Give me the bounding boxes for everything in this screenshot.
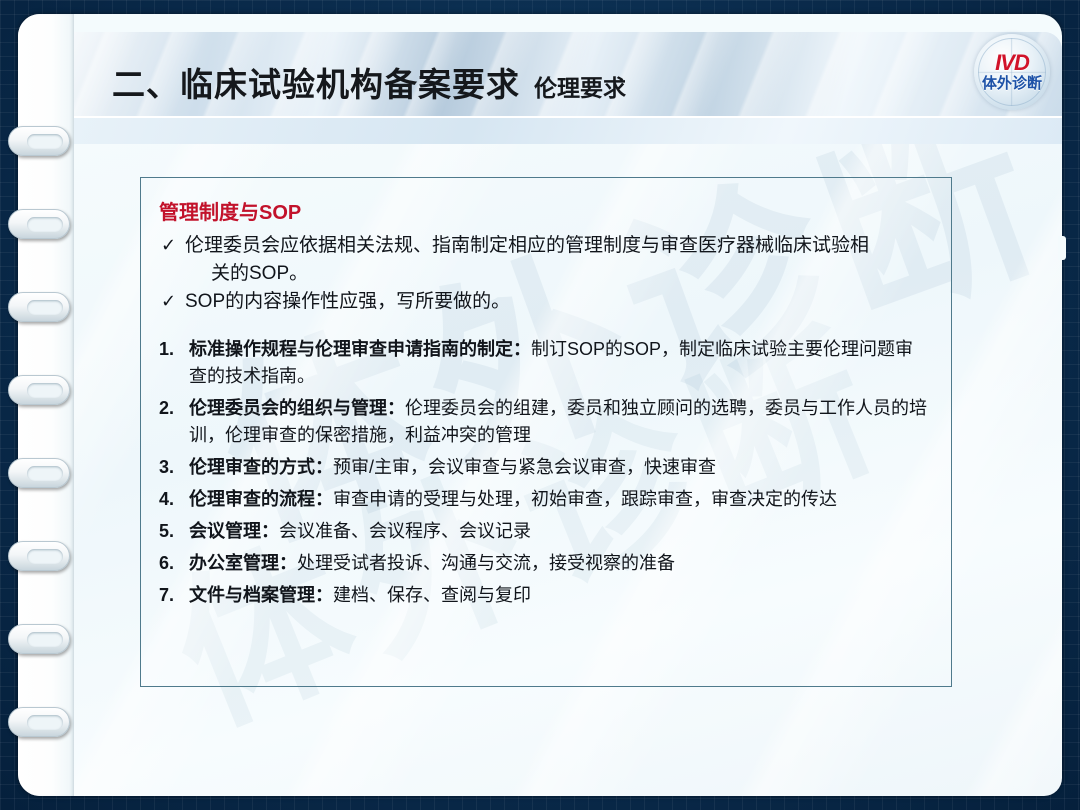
- numbered-list: 1.标准操作规程与伦理审查申请指南的制定：制订SOP的SOP，制定临床试验主要伦…: [159, 336, 927, 609]
- list-item: 3.伦理审查的方式：预审/主审，会议审查与紧急会议审查，快速审查: [159, 454, 927, 481]
- list-item-number: 7.: [159, 582, 174, 609]
- page-edge-notch: [1058, 236, 1066, 260]
- check-bullet-list: ✓ 伦理委员会应依据相关法规、指南制定相应的管理制度与审查医疗器械临床试验相 关…: [159, 232, 927, 316]
- list-item-number: 6.: [159, 550, 174, 577]
- binder-ring: [8, 126, 70, 156]
- binder-ring: [8, 458, 70, 488]
- logo-chinese-label: 体外诊断: [982, 76, 1042, 92]
- list-item-number: 2.: [159, 395, 174, 422]
- list-item: 5.会议管理：会议准备、会议程序、会议记录: [159, 518, 927, 545]
- binder-ring: [8, 707, 70, 737]
- list-item: 2.伦理委员会的组织与管理：伦理委员会的组建，委员和独立顾问的选聘，委员与工作人…: [159, 395, 927, 449]
- list-item-lead: 伦理审查的方式：: [189, 457, 333, 477]
- list-item-rest: 审查申请的受理与处理，初始审查，跟踪审查，审查决定的传达: [333, 489, 837, 509]
- logo-acronym: IVD: [995, 52, 1029, 74]
- page-subtitle: 伦理要求: [534, 69, 626, 103]
- content-box: 管理制度与SOP ✓ 伦理委员会应依据相关法规、指南制定相应的管理制度与审查医疗…: [140, 177, 952, 687]
- list-item-number: 3.: [159, 454, 174, 481]
- list-item-number: 4.: [159, 486, 174, 513]
- binder-ring: [8, 624, 70, 654]
- list-item-rest: 处理受试者投诉、沟通与交流，接受视察的准备: [297, 553, 675, 573]
- list-item-lead: 文件与档案管理：: [189, 585, 333, 605]
- slide-page: 二、临床试验机构备案要求 伦理要求 IVD 体外诊断 体外诊断 体外诊断 管理制…: [18, 14, 1062, 796]
- list-item-rest: 预审/主审，会议审查与紧急会议审查，快速审查: [333, 457, 716, 477]
- list-item-line: SOP的内容操作性应强，写所要做的。: [185, 288, 927, 316]
- binder-ring: [8, 541, 70, 571]
- list-item-number: 1.: [159, 336, 174, 363]
- list-item-rest: 建档、保存、查阅与复印: [333, 585, 531, 605]
- list-item: ✓ SOP的内容操作性应强，写所要做的。: [159, 288, 927, 316]
- slide-canvas: 二、临床试验机构备案要求 伦理要求 IVD 体外诊断 体外诊断 体外诊断 管理制…: [0, 0, 1080, 810]
- checkmark-icon: ✓: [161, 288, 176, 314]
- slide-body: 体外诊断 体外诊断 管理制度与SOP ✓ 伦理委员会应依据相关法规、指南制定相应…: [74, 144, 1062, 796]
- list-item-rest: 会议准备、会议程序、会议记录: [279, 521, 531, 541]
- list-item-lead: 办公室管理：: [189, 553, 297, 573]
- list-item-lead: 会议管理：: [189, 521, 279, 541]
- list-item-line: 伦理委员会应依据相关法规、指南制定相应的管理制度与审查医疗器械临床试验相: [185, 232, 927, 260]
- list-item: 1.标准操作规程与伦理审查申请指南的制定：制订SOP的SOP，制定临床试验主要伦…: [159, 336, 927, 390]
- list-item-lead: 标准操作规程与伦理审查申请指南的制定：: [189, 339, 531, 359]
- slide-title-group: 二、临床试验机构备案要求 伦理要求: [112, 58, 626, 106]
- checkmark-icon: ✓: [161, 232, 176, 258]
- list-item-lead: 伦理委员会的组织与管理：: [189, 398, 405, 418]
- list-item: 7.文件与档案管理：建档、保存、查阅与复印: [159, 582, 927, 609]
- list-item: 4.伦理审查的流程：审查申请的受理与处理，初始审查，跟踪审查，审查决定的传达: [159, 486, 927, 513]
- list-item: 6.办公室管理：处理受试者投诉、沟通与交流，接受视察的准备: [159, 550, 927, 577]
- slide-header-underband: [74, 118, 1062, 144]
- list-item-number: 5.: [159, 518, 174, 545]
- list-item-line: 关的SOP。: [185, 260, 927, 288]
- binder-ring: [8, 209, 70, 239]
- binder-ring: [8, 375, 70, 405]
- list-item: ✓ 伦理委员会应依据相关法规、指南制定相应的管理制度与审查医疗器械临床试验相 关…: [159, 232, 927, 287]
- binder-ring: [8, 292, 70, 322]
- section-heading: 管理制度与SOP: [159, 200, 927, 226]
- page-title: 二、临床试验机构备案要求: [112, 58, 520, 106]
- ivd-logo: IVD 体外诊断: [974, 34, 1050, 110]
- list-item-lead: 伦理审查的流程：: [189, 489, 333, 509]
